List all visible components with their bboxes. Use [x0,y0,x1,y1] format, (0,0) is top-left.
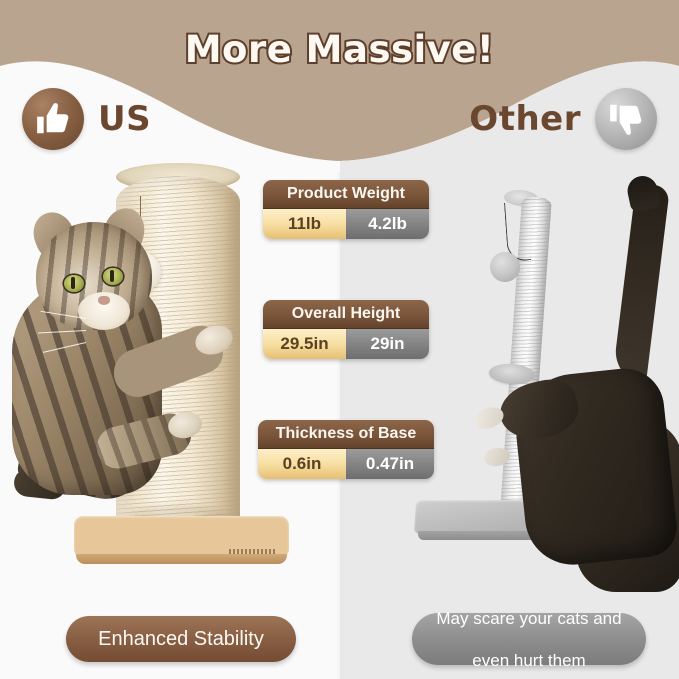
cat-us-nose [98,296,110,305]
spec-value-us: 29.5in [263,329,346,359]
spec-label: Overall Height [263,300,429,329]
spec-values: 11lb 4.2lb [263,209,429,239]
thumbs-up-glyph [34,100,72,138]
wood-base-us [74,516,289,568]
thumbs-down-glyph [607,100,645,138]
caption-text-us: Enhanced Stability [88,628,274,651]
thumbs-up-icon [22,88,84,150]
caption-pill-us: Enhanced Stability [66,616,296,662]
brand-logo-mark [229,549,275,554]
spec-row-overall-height: Overall Height 29.5in 29in [263,300,429,359]
thumbs-down-icon [595,88,657,150]
cat-us-pupil-left [71,277,75,289]
spec-value-us: 0.6in [258,449,346,479]
spec-value-other: 4.2lb [346,209,429,239]
spec-label: Thickness of Base [258,420,434,449]
side-header-us: US [22,88,151,150]
spec-values: 0.6in 0.47in [258,449,434,479]
caption-pill-other: May scare your cats and even hurt them [412,613,646,665]
pom-pom-toy-other [490,252,520,282]
side-header-other: Other [469,88,657,150]
wood-base-edge [76,554,287,564]
spec-value-other: 0.47in [346,449,434,479]
caption-text-other: May scare your cats and even hurt them [416,608,641,671]
caption-text-other-line2: even hurt them [426,650,631,671]
cat-us-pupil-right [110,270,114,282]
spec-values: 29.5in 29in [263,329,429,359]
caption-text-other-line1: May scare your cats and [426,608,631,629]
spec-value-us: 11lb [263,209,346,239]
side-label-us: US [98,99,151,139]
spec-value-other: 29in [346,329,429,359]
comparison-infographic: More Massive! US Other [0,0,679,679]
side-label-other: Other [469,99,581,139]
spec-row-thickness-of-base: Thickness of Base 0.6in 0.47in [258,420,434,479]
spec-row-product-weight: Product Weight 11lb 4.2lb [263,180,429,239]
spec-label: Product Weight [263,180,429,209]
